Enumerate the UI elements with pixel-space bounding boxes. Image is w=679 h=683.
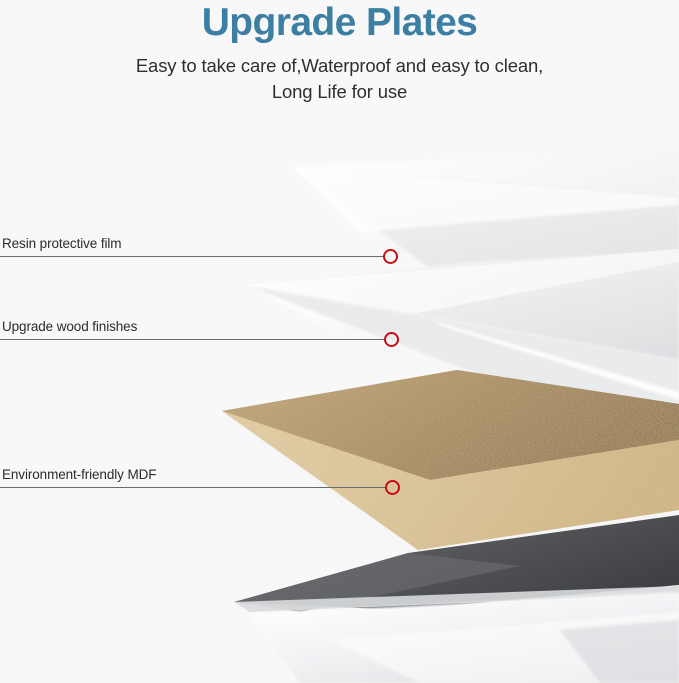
- subtitle-line-2: Long Life for use: [60, 79, 620, 105]
- callout-label: Resin protective film: [2, 236, 121, 252]
- callout-marker-dot: [385, 480, 400, 495]
- callout-marker-dot: [383, 249, 398, 264]
- callout-marker-dot: [384, 332, 399, 347]
- callout-leader-line: [0, 487, 386, 488]
- product-infographic: Upgrade Plates Easy to take care of,Wate…: [0, 0, 679, 683]
- subtitle-line-1: Easy to take care of,Waterproof and easy…: [60, 53, 620, 79]
- callout-leader-line: [0, 256, 385, 257]
- header: Upgrade Plates Easy to take care of,Wate…: [0, 0, 679, 105]
- callout-leader-line: [0, 339, 386, 340]
- callout-label: Upgrade wood finishes: [2, 319, 137, 335]
- page-title: Upgrade Plates: [0, 0, 679, 45]
- page-subtitle: Easy to take care of,Waterproof and easy…: [60, 53, 620, 105]
- callout-label: Environment-friendly MDF: [2, 467, 156, 483]
